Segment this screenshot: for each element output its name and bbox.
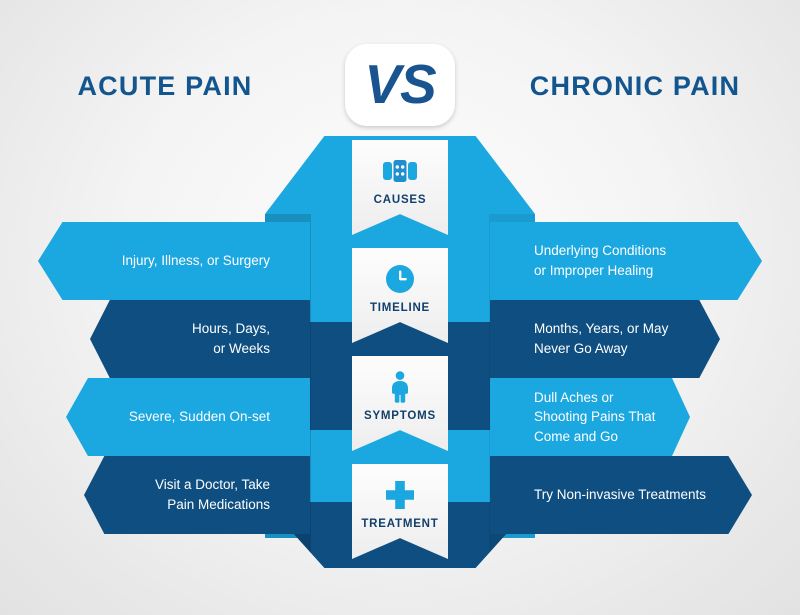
arrow-text: Injury, Illness, or Surgery [38,251,310,271]
arrow-acute-timeline: Hours, Days,or Weeks [90,300,310,378]
ribbon-label: CAUSES [374,194,427,206]
arrow-acute-treatment: Visit a Doctor, TakePain Medications [84,456,310,534]
arrow-chronic-timeline: Months, Years, or MayNever Go Away [490,300,720,378]
page-title-acute: ACUTE PAIN [0,58,330,114]
vs-label: VS [345,44,455,126]
ribbon-label: SYMPTOMS [364,410,436,422]
clock-icon [385,262,415,296]
arrow-chronic-causes: Underlying Conditionsor Improper Healing [490,222,762,300]
arrow-text: Dull Aches orShooting Pains ThatCome and… [490,388,690,447]
arrow-text: Visit a Doctor, TakePain Medications [84,475,310,514]
person-icon [387,370,413,404]
header: ACUTE PAIN VS CHRONIC PAIN [0,58,800,114]
arrow-text: Try Non-invasive Treatments [490,485,752,505]
arrow-text: Severe, Sudden On-set [66,407,310,427]
infographic-canvas: ACUTE PAIN VS CHRONIC PAIN Injury, Illne… [0,0,800,615]
arrow-chronic-treatment: Try Non-invasive Treatments [490,456,752,534]
arrow-text: Months, Years, or MayNever Go Away [490,319,720,358]
bandage-icon [383,154,417,188]
vs-badge: VS [345,44,455,126]
page-title-chronic: CHRONIC PAIN [470,58,800,114]
arrow-text: Hours, Days,or Weeks [90,319,310,358]
arrow-text: Underlying Conditionsor Improper Healing [490,241,762,280]
arrow-chronic-symptoms: Dull Aches orShooting Pains ThatCome and… [490,378,690,456]
arrow-acute-causes: Injury, Illness, or Surgery [38,222,310,300]
medical-cross-icon [386,478,414,512]
arrow-acute-symptoms: Severe, Sudden On-set [66,378,310,456]
ribbon-label: TIMELINE [370,302,430,314]
ribbon-label: TREATMENT [361,518,438,530]
